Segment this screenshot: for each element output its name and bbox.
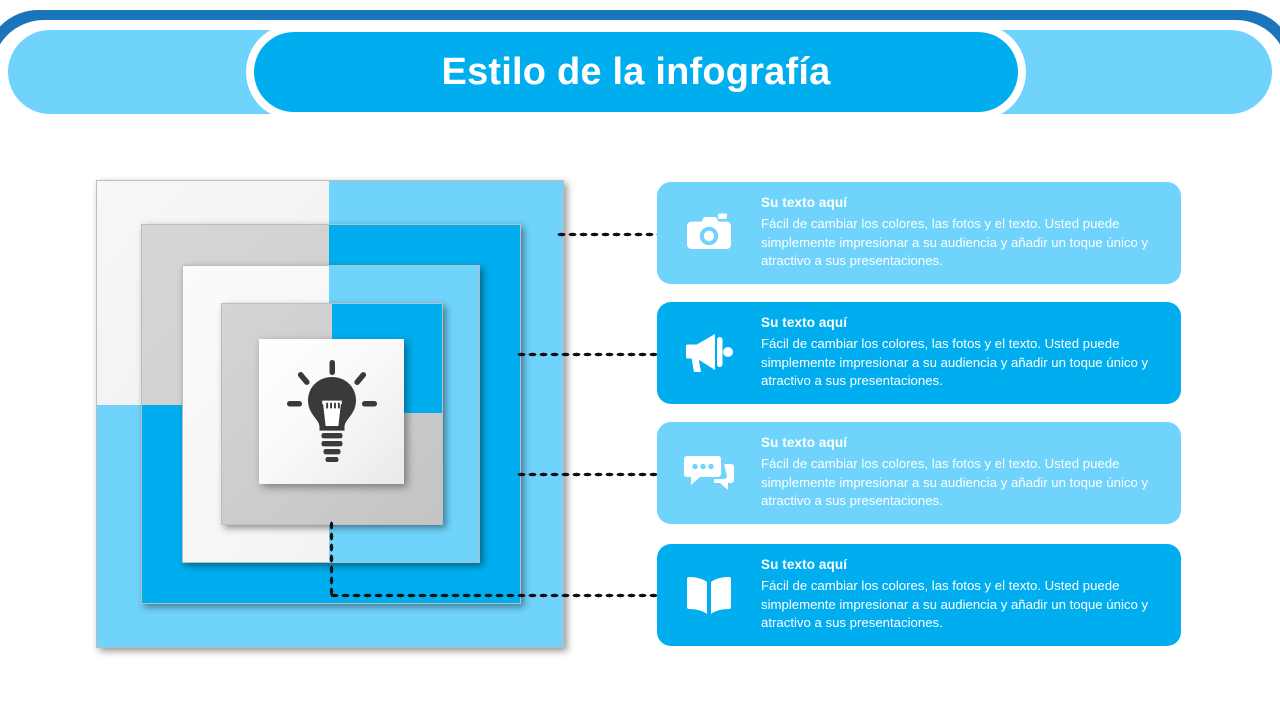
card-title: Su texto aquí [761,435,1151,450]
open-book-icon [657,574,761,616]
card-title: Su texto aquí [761,195,1151,210]
chat-bubbles-icon [657,452,761,494]
lightbulb-icon [284,358,380,466]
megaphone-icon [657,331,761,375]
card-text: Fácil de cambiar los colores, las fotos … [761,455,1151,511]
card-body: Su texto aquí Fácil de cambiar los color… [761,557,1181,633]
connector-line-1 [556,232,660,237]
text-card-4[interactable]: Su texto aquí Fácil de cambiar los color… [657,544,1181,646]
connector-line-3 [516,472,660,477]
card-text: Fácil de cambiar los colores, las fotos … [761,577,1151,633]
card-body: Su texto aquí Fácil de cambiar los color… [761,315,1181,391]
camera-icon [657,213,761,253]
text-card-1[interactable]: Su texto aquí Fácil de cambiar los color… [657,182,1181,284]
card-title: Su texto aquí [761,557,1151,572]
square-layer-5-icon-tile [259,339,404,484]
connector-line-4-vertical [329,520,334,598]
card-body: Su texto aquí Fácil de cambiar los color… [761,195,1181,271]
card-title: Su texto aquí [761,315,1151,330]
nested-squares-graphic [0,0,620,720]
connector-line-2 [516,352,660,357]
card-text: Fácil de cambiar los colores, las fotos … [761,335,1151,391]
text-cards-list: Su texto aquí Fácil de cambiar los color… [657,0,1185,720]
connector-line-4-horizontal [329,593,660,598]
card-text: Fácil de cambiar los colores, las fotos … [761,215,1151,271]
card-body: Su texto aquí Fácil de cambiar los color… [761,435,1181,511]
text-card-3[interactable]: Su texto aquí Fácil de cambiar los color… [657,422,1181,524]
text-card-2[interactable]: Su texto aquí Fácil de cambiar los color… [657,302,1181,404]
